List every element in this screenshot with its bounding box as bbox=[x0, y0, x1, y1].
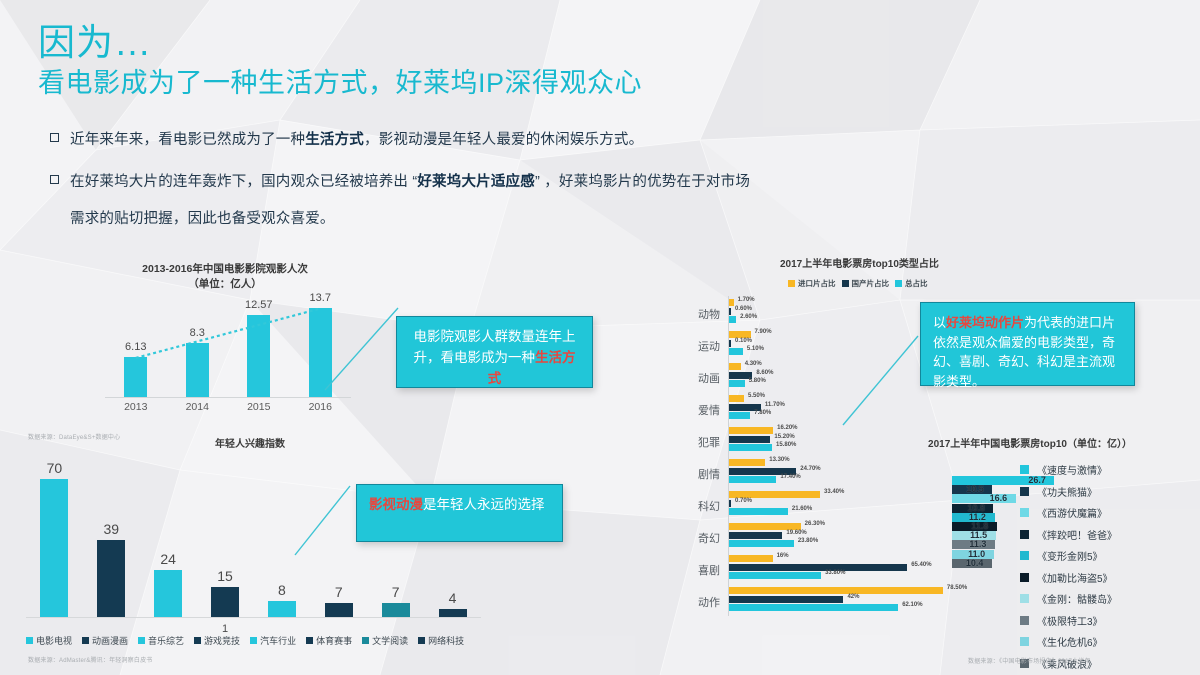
y-axis-tick-label: 科幻 bbox=[650, 498, 720, 514]
legend-swatch bbox=[1020, 616, 1029, 625]
bar-value-label: 10.5 bbox=[966, 484, 984, 494]
bar-column bbox=[154, 570, 182, 617]
bar-segment bbox=[729, 427, 773, 434]
legend-label: 进口片占比 bbox=[798, 278, 836, 289]
bar-value-label: 12.57 bbox=[236, 299, 282, 311]
x-axis-tick-label: 2015 bbox=[236, 401, 282, 413]
legend-swatch bbox=[895, 280, 902, 287]
legend-label: 电影电视 bbox=[36, 634, 72, 647]
bar-segment bbox=[729, 500, 731, 507]
legend-swatch bbox=[1020, 551, 1029, 560]
bar-segment bbox=[729, 572, 821, 579]
legend-item[interactable]: 国产片占比 bbox=[842, 278, 890, 289]
y-axis-tick-label: 犯罪 bbox=[650, 434, 720, 450]
legend-swatch bbox=[1020, 594, 1029, 603]
legend-swatch bbox=[1020, 573, 1029, 582]
legend-swatch bbox=[82, 637, 89, 644]
bar-value-label: 33.40% bbox=[824, 489, 844, 495]
bar-value-label: 4.30% bbox=[745, 361, 762, 367]
bar-value-label: 24.70% bbox=[800, 466, 820, 472]
x-axis-tick-label: 2016 bbox=[297, 401, 343, 413]
callout-cinema-audience: 电影院观影人群数量连年上升，看电影成为一种生活方式 bbox=[396, 316, 593, 388]
bullet-list: 近年来年来，看电影已然成为了一种生活方式，影视动漫是年轻人最爱的休闲娱乐方式。 … bbox=[44, 126, 1044, 247]
bar-value-label: 0.10% bbox=[735, 338, 752, 344]
y-axis-tick-label: 奇幻 bbox=[650, 530, 720, 546]
x-axis-tick-label: 2013 bbox=[113, 401, 159, 413]
callout-hollywood: 以好莱坞动作片为代表的进口片依然是观众偏爱的电影类型，奇幻、喜剧、奇幻、科幻是主… bbox=[920, 302, 1135, 386]
legend-label: 文学阅读 bbox=[372, 634, 408, 647]
bullet-2-post: ” ，好莱坞影片的优势在于对市场 bbox=[535, 174, 750, 190]
chart3-title: 2017上半年电影票房top10类型占比 bbox=[780, 258, 1020, 273]
legend-label: 网络科技 bbox=[428, 634, 464, 647]
bar-column bbox=[325, 603, 353, 617]
bar-value-label: 21.60% bbox=[792, 506, 812, 512]
slide-title-block: 因为… 看电影成为了一种生活方式，好莱坞IP深得观众心 bbox=[38, 22, 642, 101]
bullet-2-line2: 需求的贴切把握，因此也备受观众喜爱。 bbox=[70, 211, 335, 227]
y-axis-tick-label: 爱情 bbox=[650, 402, 720, 418]
bar-value-label: 17.40% bbox=[780, 474, 800, 480]
bullet-2-pre: 在好莱坞大片的连年轰炸下，国内观众已经被培养出 “ bbox=[70, 174, 417, 190]
legend-swatch bbox=[250, 637, 257, 644]
legend-item[interactable]: 《变形金刚5》 bbox=[1020, 548, 1117, 563]
bar-column bbox=[97, 540, 125, 617]
bar-value-label: 70 bbox=[30, 460, 78, 476]
bar-segment bbox=[729, 444, 772, 451]
legend-item[interactable]: 《极限特工3》 bbox=[1020, 613, 1117, 628]
bar-column bbox=[309, 308, 332, 398]
y-axis-tick-label: 动作 bbox=[650, 594, 720, 610]
bar-column bbox=[40, 479, 68, 617]
bullet-square-icon bbox=[50, 175, 59, 184]
legend-item[interactable]: 《生化危机6》 bbox=[1020, 634, 1117, 649]
bar-segment bbox=[729, 380, 745, 387]
bar-value-label: 2.60% bbox=[740, 314, 757, 320]
bar-value-label: 0.70% bbox=[735, 498, 752, 504]
legend-swatch bbox=[418, 637, 425, 644]
bar-value-label: 5.50% bbox=[748, 393, 765, 399]
bar-value-label: 11.70% bbox=[765, 402, 785, 408]
legend-label: 《金刚：骷髅岛》 bbox=[1037, 591, 1117, 606]
bar-value-label: 16% bbox=[777, 553, 789, 559]
bar-segment bbox=[729, 395, 744, 402]
legend-item[interactable]: 《金刚：骷髅岛》 bbox=[1020, 591, 1117, 606]
legend-label: 《西游伏魔篇》 bbox=[1037, 505, 1107, 520]
legend-swatch bbox=[1020, 530, 1029, 539]
bar-segment bbox=[729, 555, 773, 562]
chart-cinema-admissions: 2013-2016年中国电影影院观影人次 （单位：亿人） 6.138.312.5… bbox=[95, 262, 355, 422]
legend-item[interactable]: 网络科技 bbox=[418, 634, 464, 647]
chart3-bar-row: 16.20% bbox=[729, 427, 979, 434]
callout-3-pre: 以 bbox=[933, 315, 946, 330]
bar-column bbox=[382, 603, 410, 617]
bar-value-label: 26.30% bbox=[805, 521, 825, 527]
legend-item[interactable]: 电影电视 bbox=[26, 634, 72, 647]
bar-segment bbox=[729, 604, 898, 611]
callout-2-highlight: 影视动漫 bbox=[369, 497, 423, 512]
bar-value-label: 8 bbox=[258, 582, 306, 598]
bar-value-label: 6.13 bbox=[113, 341, 159, 353]
bar-segment bbox=[729, 316, 736, 323]
bar-segment bbox=[729, 412, 750, 419]
bar-value-label: 5.10% bbox=[747, 346, 764, 352]
bar-column bbox=[211, 587, 239, 617]
legend-item[interactable]: 游戏竞技 bbox=[194, 634, 240, 647]
bar-value-label: 4 bbox=[429, 590, 477, 606]
bar-segment bbox=[729, 363, 741, 370]
callout-anime: 影视动漫是年轻人永远的选择 bbox=[356, 484, 563, 542]
bar-segment bbox=[729, 476, 776, 483]
legend-item[interactable]: 《功夫熊猫》 bbox=[1020, 484, 1117, 499]
chart2-title: 年轻人兴趣指数 bbox=[140, 438, 360, 453]
chart-top10-movies: 2017上半年中国电影票房top10（单位：亿）） 26.710.516.610… bbox=[880, 438, 1190, 638]
legend-item[interactable]: 文学阅读 bbox=[362, 634, 408, 647]
legend-label: 体育赛事 bbox=[316, 634, 352, 647]
bar-value-label: 7.80% bbox=[754, 410, 771, 416]
bar-column bbox=[268, 601, 296, 617]
chart4-legend: 《速度与激情》《功夫熊猫》《西游伏魔篇》《摔跤吧！爸爸》《变形金刚5》《加勒比海… bbox=[1020, 462, 1117, 675]
legend-item[interactable]: 汽车行业 bbox=[250, 634, 296, 647]
bar-value-label: 5.80% bbox=[749, 378, 766, 384]
legend-swatch bbox=[138, 637, 145, 644]
bullet-text-1: 近年来年来，看电影已然成为了一种生活方式，影视动漫是年轻人最爱的休闲娱乐方式。 bbox=[70, 126, 643, 154]
legend-label: 《加勒比海盗5》 bbox=[1037, 570, 1113, 585]
bar-segment bbox=[729, 508, 788, 515]
chart1-title: 2013-2016年中国电影影院观影人次 （单位：亿人） bbox=[95, 262, 355, 292]
legend-item[interactable]: 《加勒比海盗5》 bbox=[1020, 570, 1117, 585]
bar-column bbox=[247, 315, 270, 397]
callout-2-post: 是年轻人永远的选择 bbox=[423, 497, 545, 512]
legend-label: 汽车行业 bbox=[260, 634, 296, 647]
y-axis-tick-label: 动画 bbox=[650, 370, 720, 386]
bar-segment bbox=[729, 436, 770, 443]
legend-label: 《速度与激情》 bbox=[1037, 462, 1107, 477]
bullet-1-pre: 近年来年来，看电影已然成为了一种 bbox=[70, 132, 305, 148]
legend-swatch bbox=[1020, 487, 1029, 496]
bar-segment bbox=[729, 299, 734, 306]
bullet-text-2: 在好莱坞大片的连年轰炸下，国内观众已经被培养出 “好莱坞大片适应感” ，好莱坞影… bbox=[70, 168, 750, 233]
callout-3-highlight: 好莱坞动作片 bbox=[946, 315, 1024, 330]
legend-label: 音乐综艺 bbox=[148, 634, 184, 647]
chart4-title: 2017上半年中国电影票房top10（单位：亿）） bbox=[880, 438, 1180, 453]
page-subtitle: 看电影成为了一种生活方式，好莱坞IP深得观众心 bbox=[38, 67, 642, 101]
chart2-source: 数据来源：AdMaster&腾讯：年轻洞察白皮书 bbox=[28, 655, 152, 664]
bar-value-label: 23.80% bbox=[798, 538, 818, 544]
legend-label: 国产片占比 bbox=[852, 278, 890, 289]
chart-youth-interest-index: 年轻人兴趣指数 7039241587741 电影电视动画漫画音乐综艺游戏竞技汽车… bbox=[10, 438, 480, 648]
legend-swatch bbox=[362, 637, 369, 644]
slide-canvas: 因为… 看电影成为了一种生活方式，好莱坞IP深得观众心 近年来年来，看电影已然成… bbox=[0, 0, 1200, 675]
chart2-legend: 电影电视动画漫画音乐综艺游戏竞技汽车行业体育赛事文学阅读网络科技 bbox=[26, 634, 471, 647]
bar-value-label: 7.90% bbox=[755, 329, 772, 335]
chart3-legend: 进口片占比国产片占比总占比 bbox=[788, 278, 934, 289]
y-axis-tick-label: 喜剧 bbox=[650, 562, 720, 578]
bar-value-label: 8.3 bbox=[174, 327, 220, 339]
y-axis-tick-label: 运动 bbox=[650, 338, 720, 354]
chart4-source: 数据来源：《中国电影市场报告》2017上半年 bbox=[968, 656, 1091, 665]
legend-swatch bbox=[1020, 637, 1029, 646]
legend-label: 游戏竞技 bbox=[204, 634, 240, 647]
bar-value-label: 15 bbox=[201, 568, 249, 584]
x-axis-tick-label: 2014 bbox=[174, 401, 220, 413]
bar-value-label: 15.80% bbox=[776, 442, 796, 448]
bar-segment bbox=[729, 340, 731, 347]
legend-label: 《生化危机6》 bbox=[1037, 634, 1103, 649]
legend-swatch bbox=[1020, 465, 1029, 474]
bar-value-label: 24 bbox=[144, 551, 192, 567]
legend-item[interactable]: 音乐综艺 bbox=[138, 634, 184, 647]
bullet-2-bold: 好莱坞大片适应感 bbox=[417, 174, 535, 190]
bar-value-label: 0.60% bbox=[735, 306, 752, 312]
bar-column bbox=[186, 343, 209, 397]
bar-value-label: 13.30% bbox=[769, 457, 789, 463]
legend-label: 《摔跤吧！爸爸》 bbox=[1037, 527, 1117, 542]
legend-swatch bbox=[1020, 508, 1029, 517]
legend-item[interactable]: 总占比 bbox=[895, 278, 928, 289]
chart3-bar-row: 7.80% bbox=[729, 412, 979, 419]
legend-item[interactable]: 《摔跤吧！爸爸》 bbox=[1020, 527, 1117, 542]
legend-item[interactable]: 《西游伏魔篇》 bbox=[1020, 505, 1117, 520]
page-title: 因为… bbox=[38, 22, 642, 63]
legend-label: 《极限特工3》 bbox=[1037, 613, 1103, 628]
bar-segment bbox=[729, 459, 765, 466]
bar-column bbox=[124, 357, 147, 397]
bar-segment bbox=[729, 532, 782, 539]
y-axis-tick-label: 动物 bbox=[650, 306, 720, 322]
legend-label: 动画漫画 bbox=[92, 634, 128, 647]
bar-value-label: 19.60% bbox=[786, 530, 806, 536]
bullet-1-post: ，影视动漫是年轻人最爱的休闲娱乐方式。 bbox=[364, 132, 643, 148]
bar-segment bbox=[729, 540, 794, 547]
bullet-item-1: 近年来年来，看电影已然成为了一种生活方式，影视动漫是年轻人最爱的休闲娱乐方式。 bbox=[44, 126, 1044, 154]
bar-segment bbox=[729, 596, 843, 603]
legend-label: 《变形金刚5》 bbox=[1037, 548, 1103, 563]
chart3-category-group: 爱情5.50%11.70%7.80% bbox=[650, 392, 980, 424]
bar-value-label: 1.70% bbox=[738, 297, 755, 303]
bar-value-label: 10.4 bbox=[966, 558, 984, 568]
y-axis-tick-label: 剧情 bbox=[650, 466, 720, 482]
bar-value-label: 42% bbox=[847, 594, 859, 600]
legend-label: 总占比 bbox=[905, 278, 928, 289]
legend-swatch bbox=[26, 637, 33, 644]
bar-value-label: 8.60% bbox=[756, 370, 773, 376]
bar-value-label: 39 bbox=[87, 521, 135, 537]
bar-segment bbox=[729, 348, 743, 355]
legend-swatch bbox=[194, 637, 201, 644]
bar-value-label: 7 bbox=[315, 584, 363, 600]
legend-swatch bbox=[306, 637, 313, 644]
bullet-item-2: 在好莱坞大片的连年轰炸下，国内观众已经被培养出 “好莱坞大片适应感” ，好莱坞影… bbox=[44, 168, 1044, 233]
legend-item[interactable]: 体育赛事 bbox=[306, 634, 352, 647]
legend-swatch bbox=[842, 280, 849, 287]
chart1-plot: 6.138.312.5713.7 bbox=[105, 300, 351, 398]
legend-swatch bbox=[788, 280, 795, 287]
bar-segment bbox=[729, 308, 731, 315]
legend-item[interactable]: 《速度与激情》 bbox=[1020, 462, 1117, 477]
bar-value-label: 13.7 bbox=[297, 292, 343, 304]
bar-column bbox=[439, 609, 467, 617]
bar-value-label: 15.20% bbox=[774, 434, 794, 440]
bullet-1-bold: 生活方式 bbox=[305, 132, 364, 148]
bullet-square-icon bbox=[50, 133, 59, 142]
bar-value-label: 7 bbox=[372, 584, 420, 600]
bar-value-label: 16.6 bbox=[990, 493, 1008, 503]
legend-item[interactable]: 进口片占比 bbox=[788, 278, 836, 289]
legend-label: 《功夫熊猫》 bbox=[1037, 484, 1097, 499]
legend-item[interactable]: 动画漫画 bbox=[82, 634, 128, 647]
bar-value-label: 33.80% bbox=[825, 570, 845, 576]
bar-value-label: 16.20% bbox=[777, 425, 797, 431]
